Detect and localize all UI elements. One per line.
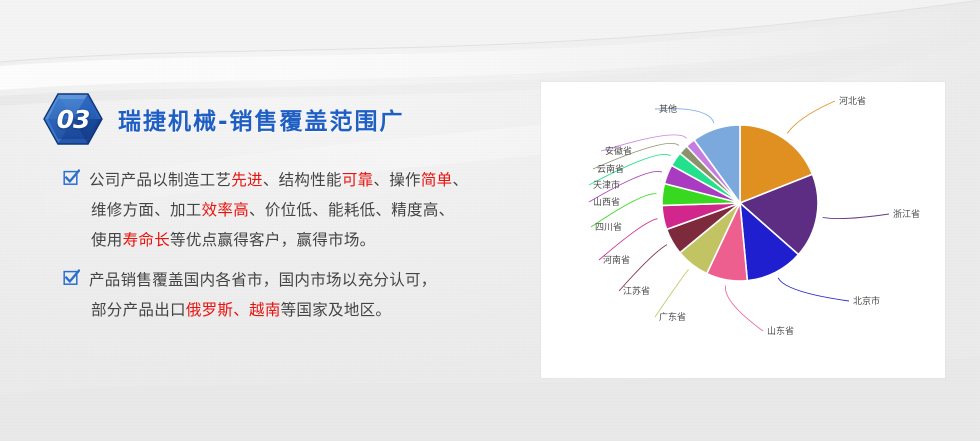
section-number-badge: 03: [42, 92, 104, 146]
text-line: 公司产品以制造工艺先进、结构性能可靠、操作简单、: [89, 165, 468, 195]
text-run: 等优点赢得客户，赢得市场。: [170, 231, 375, 249]
text-line: 产品销售覆盖国内各省市，国内市场以充分认可，: [89, 265, 437, 295]
pie-slice-label: 云南省: [597, 163, 624, 175]
text-line: 部分产品出口俄罗斯、越南等国家及地区。: [89, 295, 437, 325]
text-run: 、价位低、能耗低、精度高、: [249, 201, 454, 219]
slide-canvas: 03 瑞捷机械-销售覆盖范围广 公司产品以制造工艺先进、结构性能可靠、操作简单、…: [0, 0, 980, 441]
text-line: 使用寿命长等优点赢得客户，赢得市场。: [89, 225, 468, 255]
text-run: 、: [452, 171, 468, 189]
pie-slice-label: 北京市: [853, 295, 880, 307]
section-heading: 03 瑞捷机械-销售覆盖范围广: [42, 92, 405, 146]
text-run: 等国家及地区。: [281, 301, 392, 319]
pie-slice-label: 浙江省: [893, 208, 920, 220]
pie-slice-label: 广东省: [659, 311, 686, 323]
text-run: 、操作: [373, 171, 420, 189]
text-run: 使用: [91, 231, 123, 249]
pie-slice-label: 河南省: [603, 254, 630, 266]
text-run-highlight: 可靠: [342, 171, 374, 189]
sales-coverage-pie-chart: 河北省浙江省北京市山东省广东省江苏省河南省四川省山西省天津市云南省安徽省其他: [541, 82, 945, 378]
pie-slice-label: 天津市: [593, 179, 620, 191]
text-run: 、结构性能: [263, 171, 342, 189]
pie-leader-line: [655, 269, 689, 317]
pie-slice-label: 其他: [659, 103, 677, 115]
pie-slice-label: 河北省: [839, 95, 866, 107]
text-run-highlight: 俄罗斯、越南: [186, 301, 281, 319]
text-run-highlight: 简单: [421, 171, 453, 189]
text-run-highlight: 寿命长: [123, 231, 170, 249]
page-title: 瑞捷机械-销售覆盖范围广: [118, 102, 405, 136]
feature-list: 公司产品以制造工艺先进、结构性能可靠、操作简单、 维修方面、加工效率高、价位低、…: [63, 165, 533, 335]
pie-slice-label: 四川省: [595, 221, 622, 233]
check-square-icon: [63, 169, 80, 186]
list-item-text: 产品销售覆盖国内各省市，国内市场以充分认可， 部分产品出口俄罗斯、越南等国家及地…: [89, 265, 437, 325]
check-square-icon: [63, 269, 80, 286]
pie-slice-label: 江苏省: [623, 285, 650, 297]
pie-leader-line: [823, 214, 889, 219]
pie-leader-line: [787, 101, 835, 134]
pie-leader-line: [619, 245, 667, 291]
text-run: 公司产品以制造工艺: [89, 171, 231, 189]
badge-number-text: 03: [42, 92, 104, 146]
pie-leader-line: [725, 286, 763, 331]
list-item: 公司产品以制造工艺先进、结构性能可靠、操作简单、 维修方面、加工效率高、价位低、…: [63, 165, 533, 255]
text-run-highlight: 先进: [231, 171, 263, 189]
list-item: 产品销售覆盖国内各省市，国内市场以充分认可， 部分产品出口俄罗斯、越南等国家及地…: [63, 265, 533, 325]
pie-leader-line: [778, 278, 849, 301]
text-run: 部分产品出口: [91, 301, 186, 319]
chart-panel: 河北省浙江省北京市山东省广东省江苏省河南省四川省山西省天津市云南省安徽省其他: [541, 82, 945, 378]
pie-slice-label: 山西省: [593, 196, 620, 208]
text-run-highlight: 效率高: [202, 201, 249, 219]
pie-slice-label: 山东省: [767, 325, 794, 337]
list-item-text: 公司产品以制造工艺先进、结构性能可靠、操作简单、 维修方面、加工效率高、价位低、…: [89, 165, 468, 255]
pie-slices: [662, 125, 818, 281]
text-run: 维修方面、加工: [91, 201, 202, 219]
text-line: 维修方面、加工效率高、价位低、能耗低、精度高、: [89, 195, 468, 225]
text-run: 产品销售覆盖国内各省市，国内市场以充分认可，: [89, 271, 437, 289]
pie-slice-label: 安徽省: [605, 145, 632, 157]
